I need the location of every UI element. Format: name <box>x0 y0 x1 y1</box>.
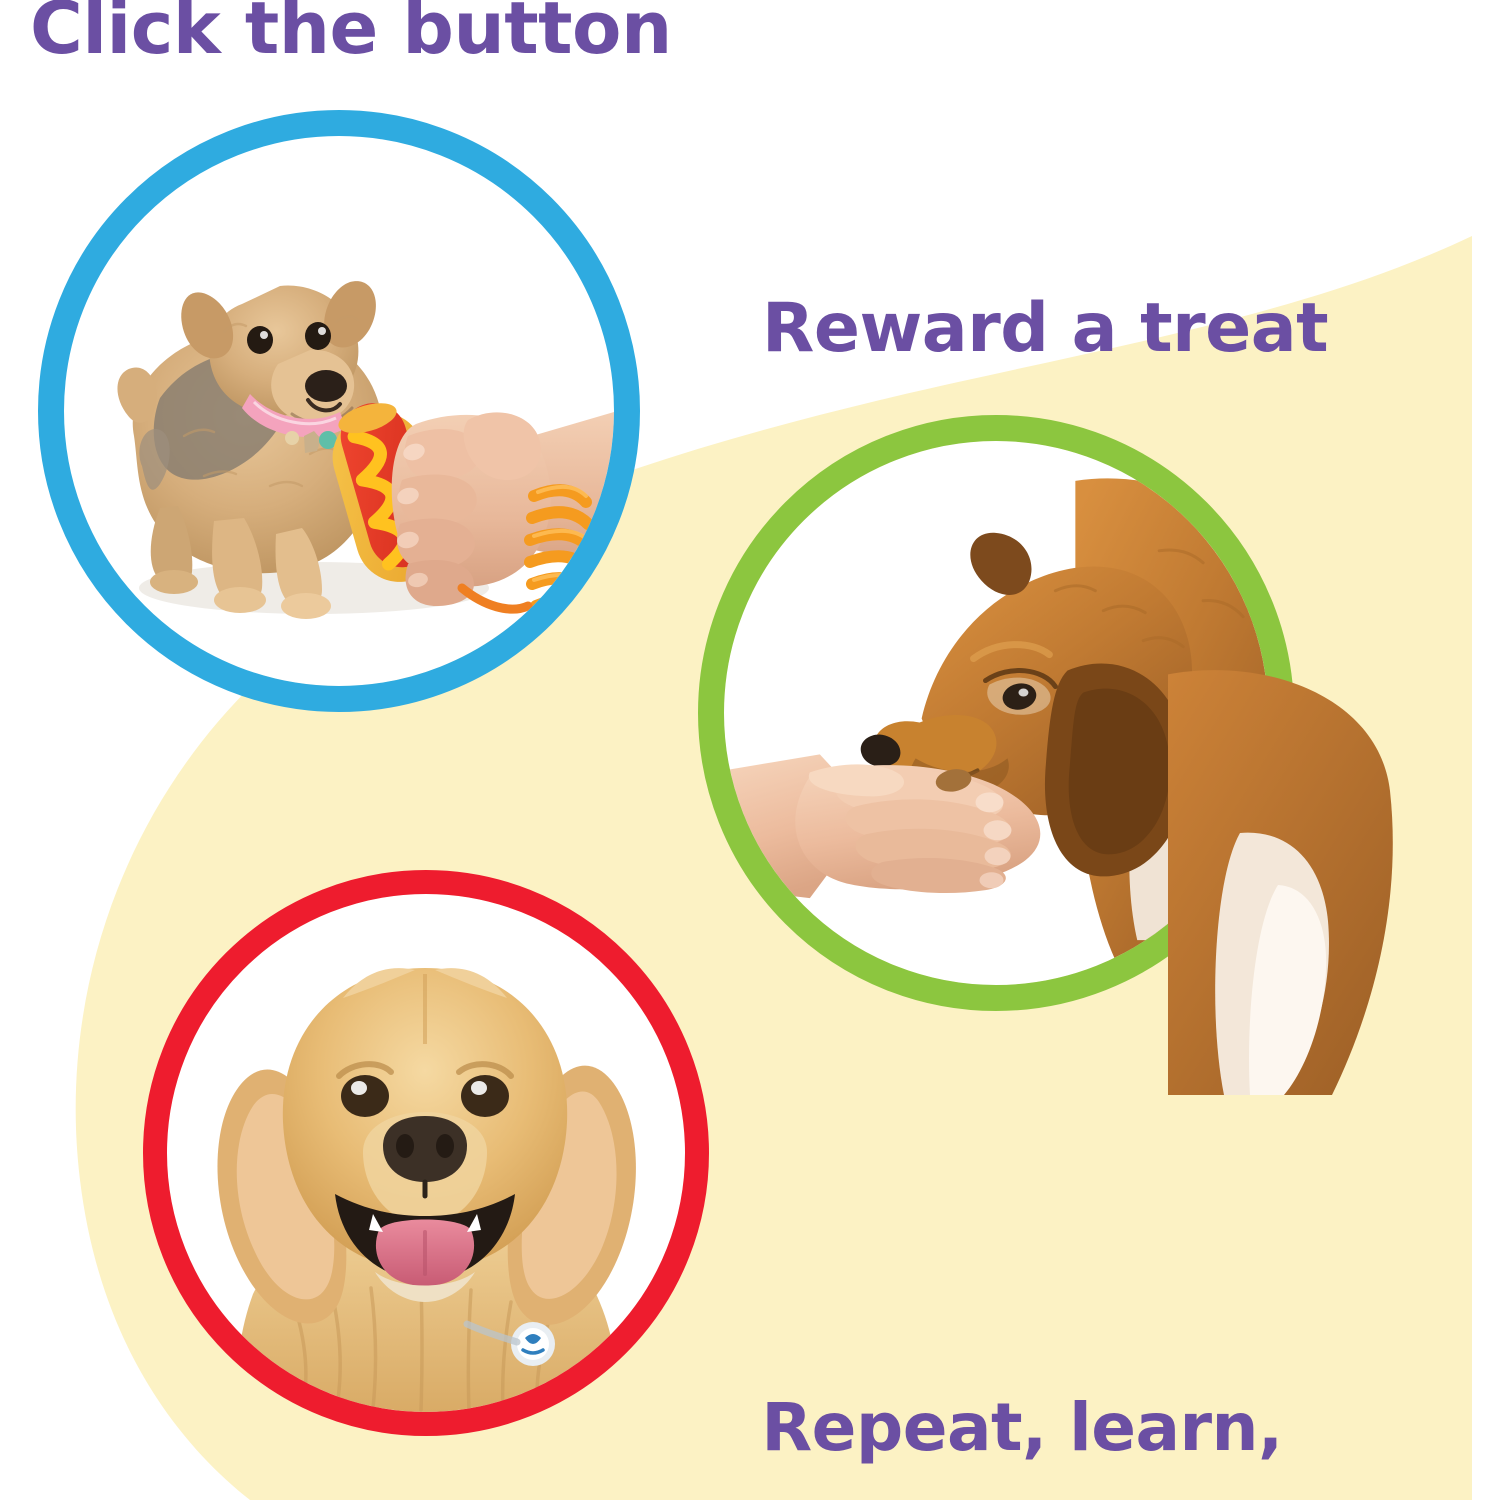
green-ring-border <box>698 415 1294 1011</box>
red-ring-border <box>143 870 709 1436</box>
step-1-photo-clicker <box>38 110 640 712</box>
step-3-heading: Repeat, learn, and grow! <box>722 1272 1322 1500</box>
step-2-photo-treat <box>698 415 1294 1011</box>
step-1-heading: Click the button <box>30 0 672 62</box>
step-3-photo-golden-retriever <box>143 870 709 1436</box>
step-2-heading: Reward a treat <box>762 297 1328 362</box>
step-3-heading-line-1: Repeat, learn, <box>722 1397 1322 1460</box>
blue-ring-border <box>38 110 640 712</box>
poster-canvas: Click the button <box>0 0 1500 1500</box>
